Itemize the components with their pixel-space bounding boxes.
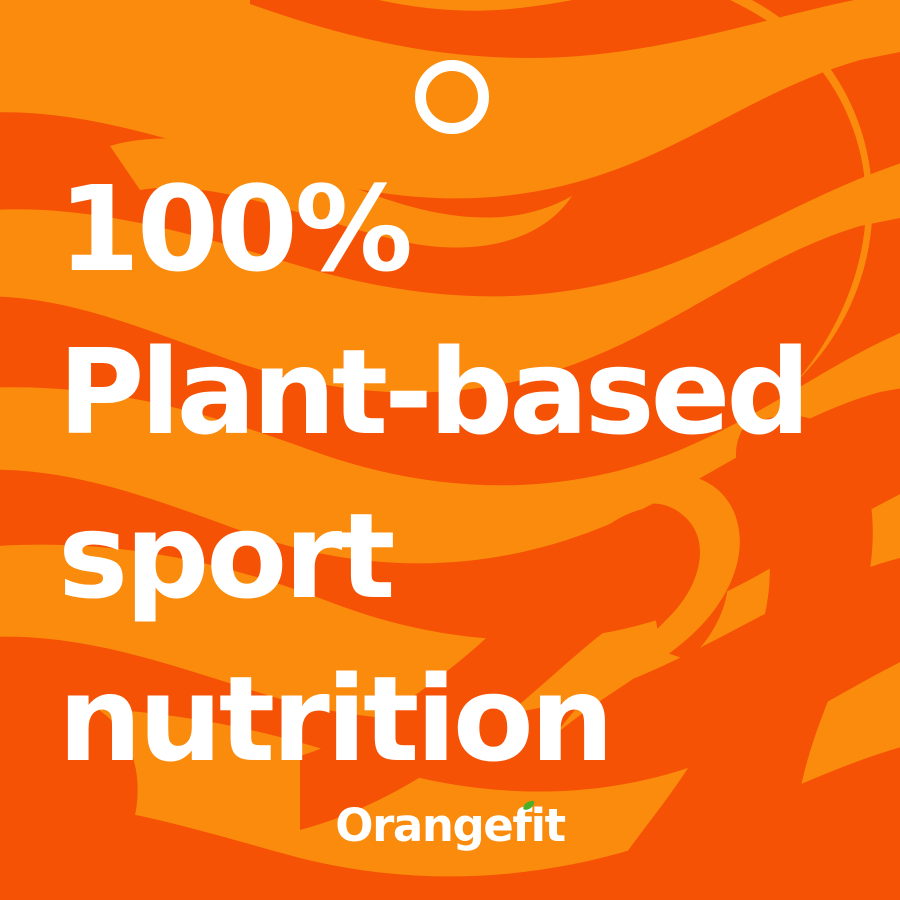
- headline-block: 100% Plant-based sport nutrition: [58, 148, 878, 802]
- headline-line-2: Plant-based: [58, 311, 878, 474]
- ring-icon: [415, 60, 489, 134]
- wordmark-inner: Orangefit: [335, 801, 565, 851]
- orangefit-wordmark: Orangefit: [0, 801, 900, 857]
- headline-line-1: 100%: [58, 148, 878, 311]
- headline-line-3: sport: [58, 475, 878, 638]
- leaf-icon: [522, 800, 535, 811]
- orangefit-ring-logo: [415, 60, 489, 134]
- headline-line-4: nutrition: [58, 638, 878, 801]
- poster-canvas: 100% Plant-based sport nutrition Orangef…: [0, 0, 900, 900]
